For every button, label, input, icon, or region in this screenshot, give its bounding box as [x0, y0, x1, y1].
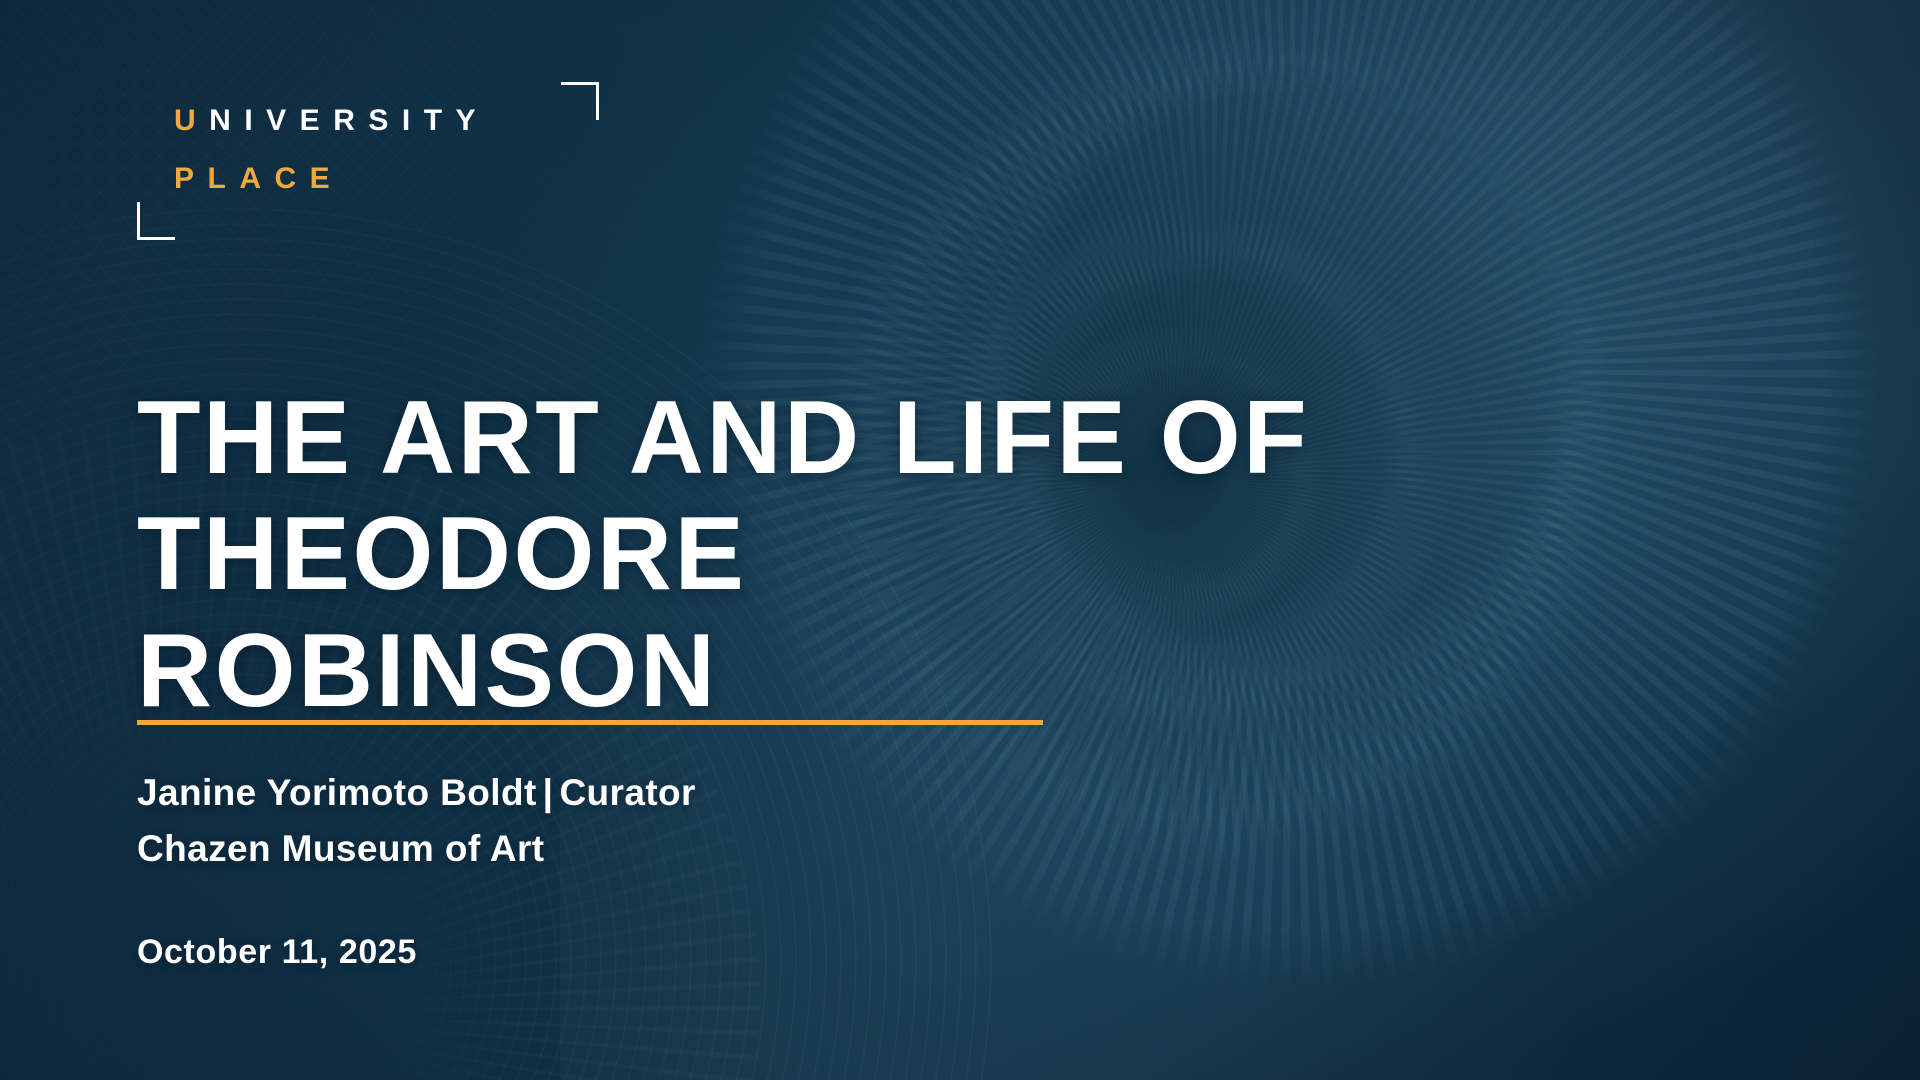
event-date: October 11, 2025	[137, 933, 417, 972]
logo-line-university: UNIVERSITY	[174, 104, 489, 138]
title-line-2: THEODORE ROBINSON	[137, 496, 1317, 729]
page-title: THE ART AND LIFE OF THEODORE ROBINSON	[137, 380, 1317, 729]
presenter-name: Janine Yorimoto Boldt	[137, 772, 537, 813]
logo-line-place: PLACE	[174, 162, 343, 196]
title-line-1: THE ART AND LIFE OF	[137, 380, 1317, 496]
accent-rule-divider	[137, 720, 1043, 725]
university-place-logo: UNIVERSITY PLACE	[137, 82, 577, 232]
corner-bracket-top-right-icon	[561, 82, 599, 120]
presenter-role: Curator	[559, 772, 695, 813]
corner-bracket-bottom-left-icon	[137, 202, 175, 240]
presenter-name-role: Janine Yorimoto Boldt|Curator	[137, 765, 696, 821]
presenter-separator: |	[537, 772, 560, 813]
presenter-block: Janine Yorimoto Boldt|Curator Chazen Mus…	[137, 765, 696, 877]
title-slide: UNIVERSITY PLACE THE ART AND LIFE OF THE…	[0, 0, 1920, 1080]
logo-line-university-rest: NIVERSITY	[209, 104, 489, 137]
presenter-affiliation: Chazen Museum of Art	[137, 821, 696, 877]
logo-accent-letter: U	[174, 104, 209, 137]
